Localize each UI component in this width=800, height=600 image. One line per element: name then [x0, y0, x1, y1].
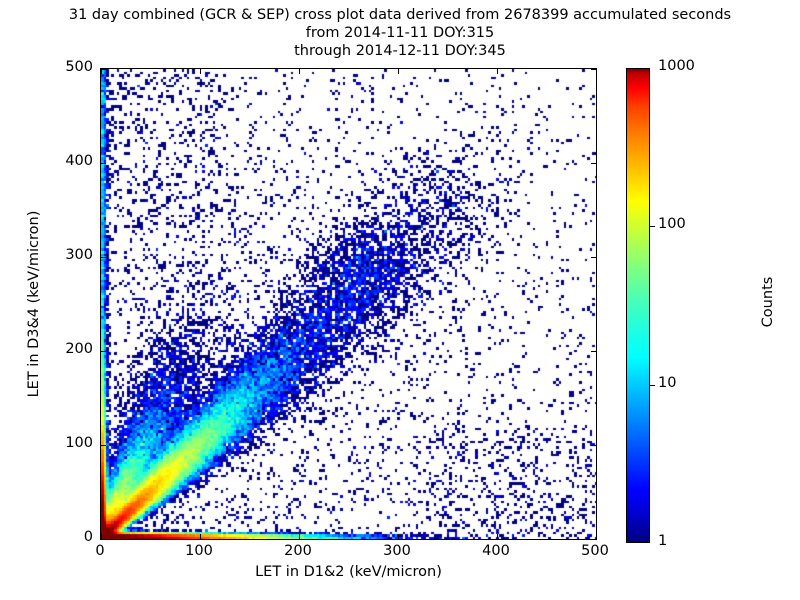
colorbar-tick-label: 100: [658, 216, 686, 232]
x-tick-label: 200: [268, 543, 328, 559]
x-tick-label: 100: [169, 543, 229, 559]
x-tick-label: 500: [565, 543, 625, 559]
x-axis-label: LET in D1&2 (keV/micron): [100, 564, 597, 580]
y-tick-label: 300: [33, 247, 93, 263]
x-tick-mark-top: [398, 69, 399, 74]
y-tick-mark: [101, 69, 106, 70]
x-tick-mark: [398, 534, 399, 539]
x-tick-mark-top: [596, 69, 597, 74]
colorbar-tick-label: 1000: [658, 58, 695, 74]
y-tick-mark-right: [591, 351, 596, 352]
colorbar-tick-mark: [650, 226, 655, 227]
title-line-1: 31 day combined (GCR & SEP) cross plot d…: [0, 6, 800, 24]
y-tick-mark: [101, 539, 106, 540]
y-tick-mark-right: [591, 445, 596, 446]
x-tick-mark-top: [200, 69, 201, 74]
y-tick-label: 400: [33, 153, 93, 169]
colorbar-tick-mark: [650, 385, 655, 386]
y-tick-label: 200: [33, 341, 93, 357]
colorbar-tick-label: 10: [658, 375, 676, 391]
x-tick-label: 0: [70, 543, 130, 559]
x-tick-mark-top: [299, 69, 300, 74]
y-tick-mark-right: [591, 69, 596, 70]
scatter-density-canvas: [101, 69, 596, 539]
plot-area: [100, 68, 597, 540]
x-tick-label: 400: [466, 543, 526, 559]
colorbar: [626, 68, 650, 543]
y-tick-mark-right: [591, 539, 596, 540]
y-tick-mark: [101, 445, 106, 446]
colorbar-label: Counts: [760, 137, 776, 467]
y-tick-label: 100: [33, 435, 93, 451]
x-tick-mark: [200, 534, 201, 539]
y-axis-label: LET in D3&4 (keV/micron): [26, 68, 42, 540]
figure: 31 day combined (GCR & SEP) cross plot d…: [0, 0, 800, 600]
y-tick-mark-right: [591, 257, 596, 258]
chart-title: 31 day combined (GCR & SEP) cross plot d…: [0, 6, 800, 60]
y-tick-label: 500: [33, 59, 93, 75]
x-tick-mark: [299, 534, 300, 539]
y-tick-mark: [101, 351, 106, 352]
y-tick-mark-right: [591, 163, 596, 164]
title-line-2: from 2014-11-11 DOY:315: [0, 24, 800, 42]
y-tick-mark: [101, 257, 106, 258]
x-tick-mark-top: [497, 69, 498, 74]
x-tick-mark: [596, 534, 597, 539]
x-tick-label: 300: [367, 543, 427, 559]
y-tick-label: 0: [33, 529, 93, 545]
y-tick-mark: [101, 163, 106, 164]
x-tick-mark: [497, 534, 498, 539]
colorbar-tick-label: 1: [658, 533, 667, 549]
